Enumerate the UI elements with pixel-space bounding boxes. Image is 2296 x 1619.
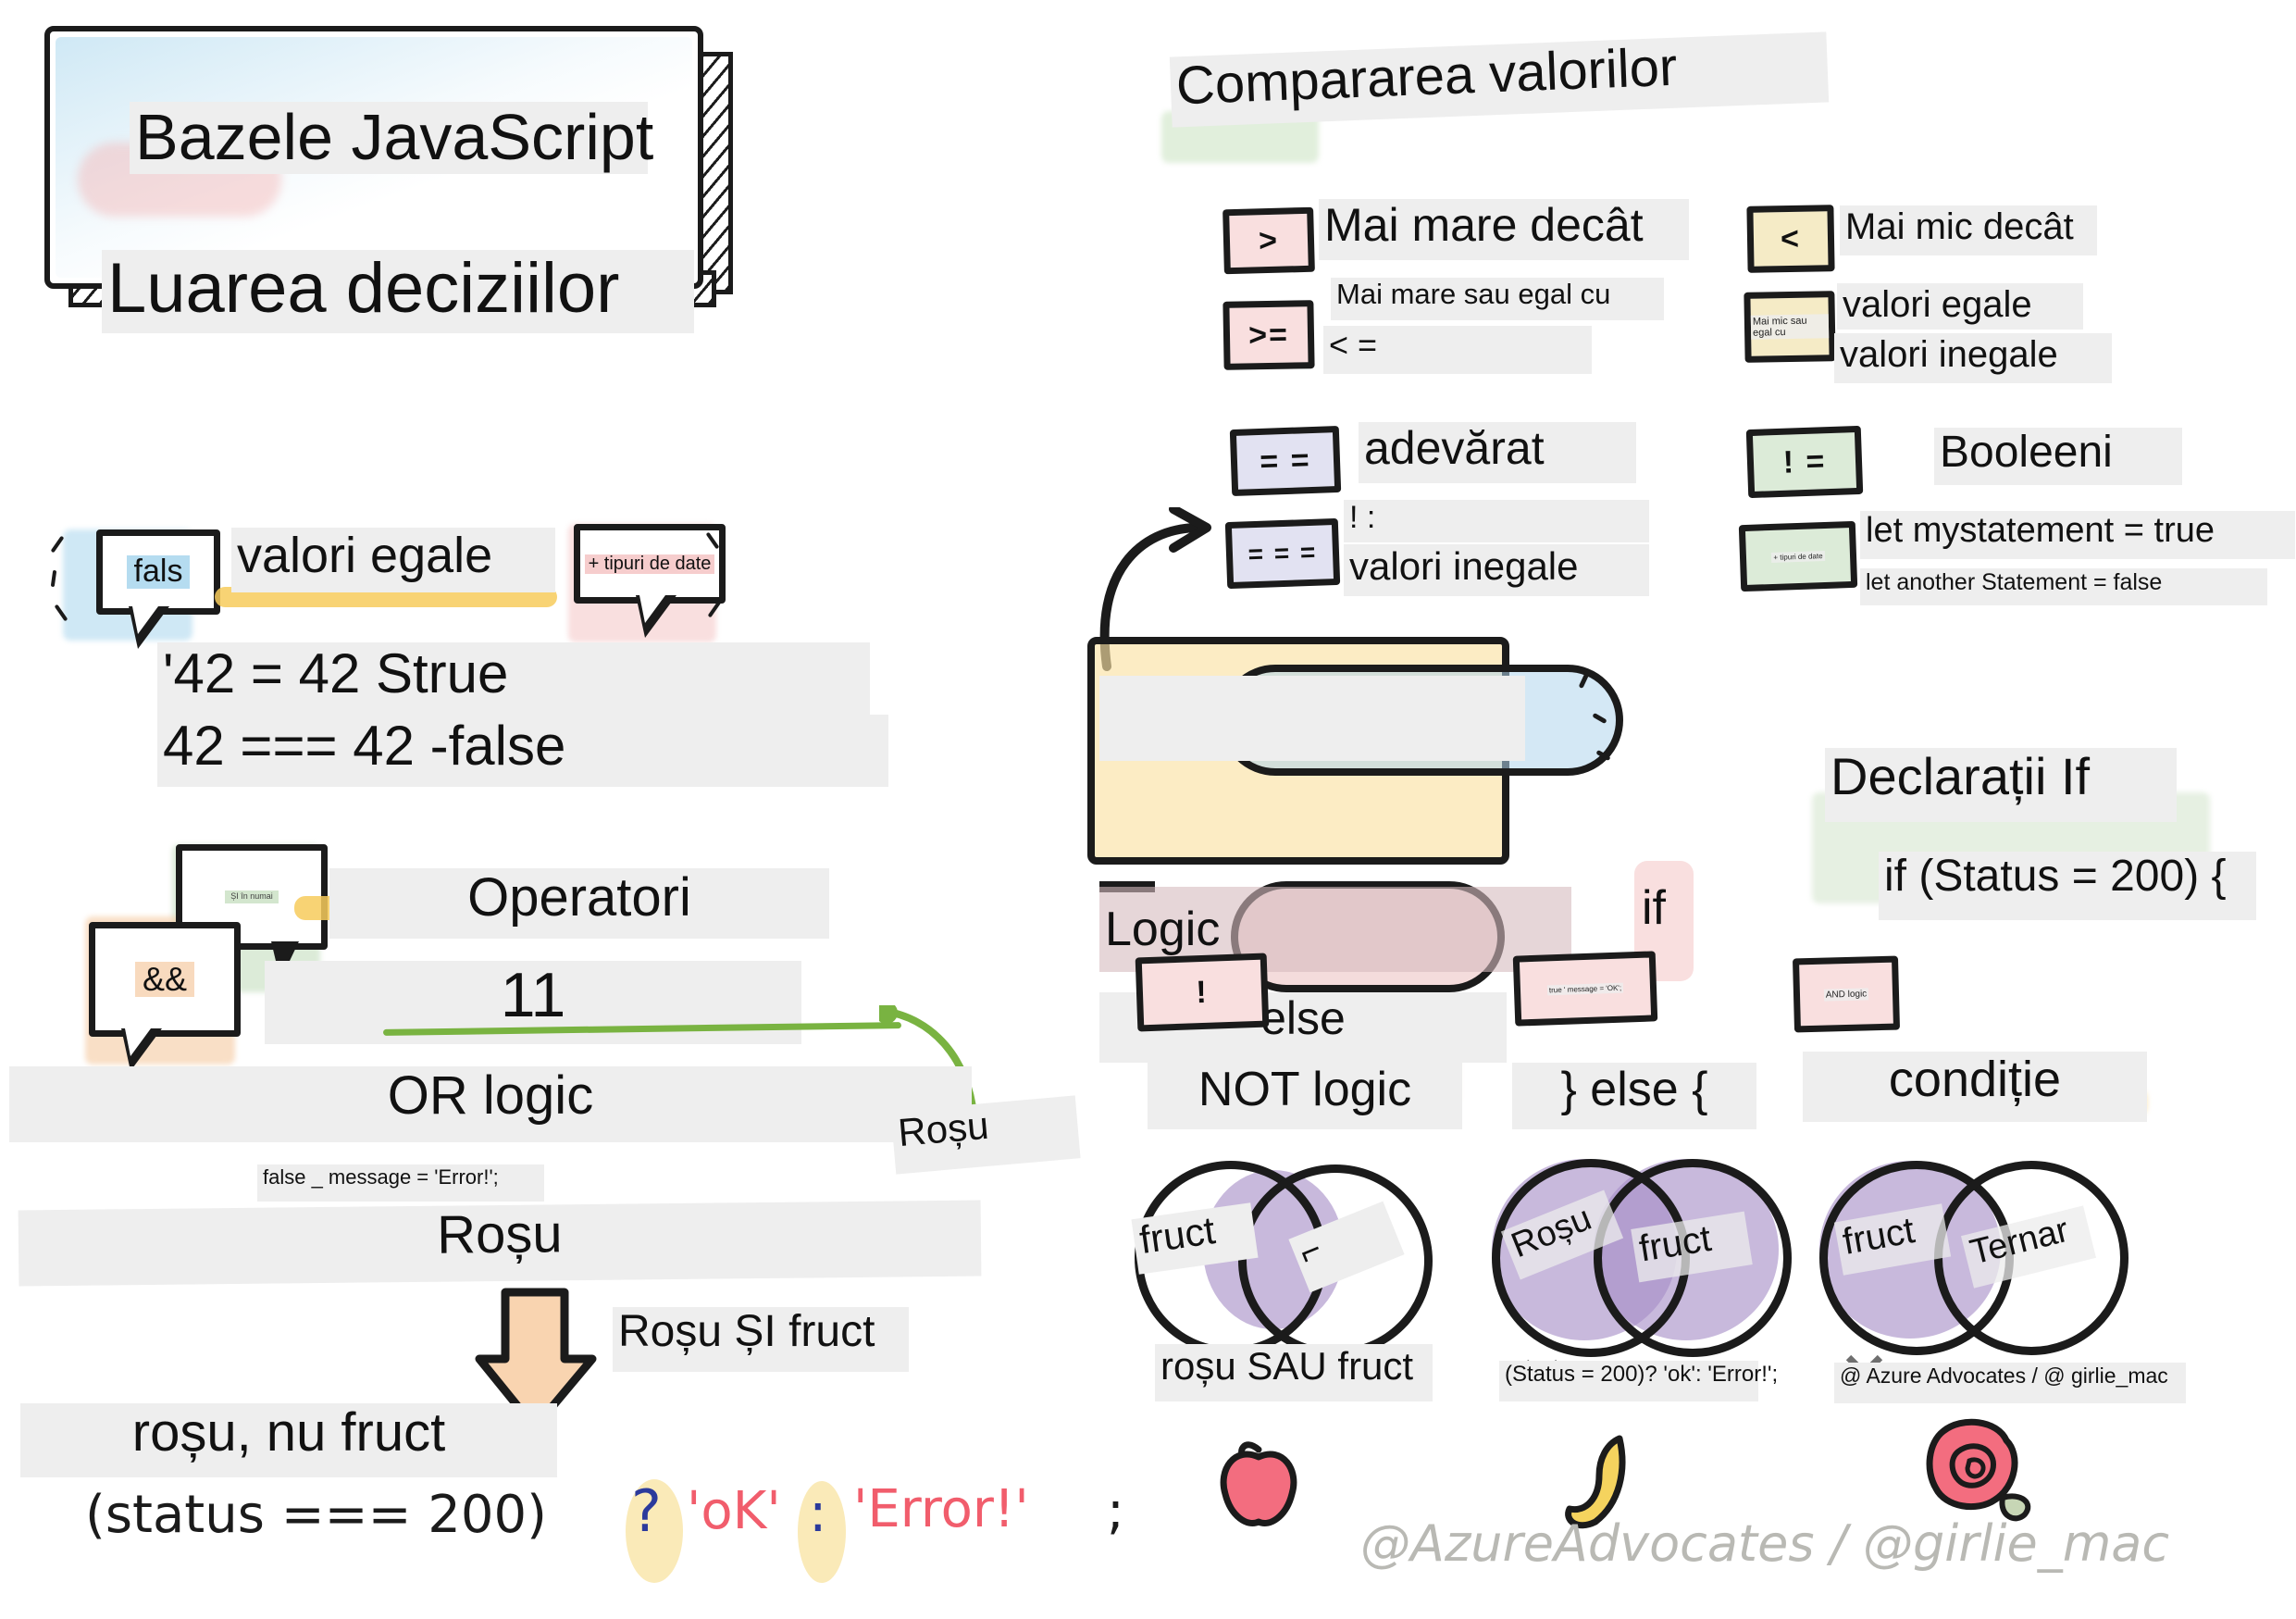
boolean-assign-chip-note: + tipuri de date: [1771, 551, 1825, 563]
greater-equal-glyph: >=: [1248, 317, 1289, 354]
fals-label: fals: [127, 555, 191, 589]
booleeni-label: Booleeni: [1934, 428, 2182, 485]
adevarat-label: adevărat: [1359, 422, 1636, 483]
ternary-false-value: 'Error!': [853, 1479, 1029, 1539]
ternary-colon: :: [809, 1481, 827, 1544]
greater-than-chip: >: [1222, 207, 1315, 275]
and-operator-bubble: &&: [89, 922, 241, 1037]
not-logic-heading: NOT logic: [1148, 1063, 1462, 1129]
watermark: @AzureAdvocates / @girlie_mac: [1360, 1514, 2169, 1573]
equal-values-label: valori egale: [1837, 283, 2083, 330]
greater-than-glyph: >: [1259, 222, 1280, 259]
tipuri-de-date-label: + tipuri de date: [585, 554, 715, 574]
logic-condition-plate: [1099, 676, 1525, 761]
loose-equality-glyph: = =: [1260, 442, 1311, 480]
declaratii-if-heading: Declarații If: [1825, 748, 2177, 822]
equality-code-line-1: '42 = 42 Strue: [157, 642, 870, 715]
ternary-condition: (status === 200): [85, 1485, 547, 1545]
comparison-heading: Compararea valorilor: [1170, 31, 1829, 127]
not-colon-label: ! :: [1344, 500, 1649, 542]
tipuri-de-date-bubble: + tipuri de date: [574, 524, 726, 604]
else-note-chip-label: true ' message = 'OK';: [1547, 982, 1624, 995]
title-line-2: Luarea deciziilor: [102, 250, 694, 333]
less-than-chip: <: [1746, 205, 1834, 273]
not-equal-chip: ! =: [1746, 426, 1864, 498]
operatori-heading: Operatori: [329, 868, 829, 939]
equality-code-line-2: 42 === 42 -false: [157, 715, 888, 787]
loose-equality-chip: = =: [1230, 426, 1341, 496]
spark-icon: [51, 570, 56, 587]
less-equal-chip-note: Mai mic sau egal cu: [1751, 314, 1829, 339]
greater-equal-label: Mai mare sau egal cu: [1331, 278, 1664, 320]
or-logic-label: OR logic: [9, 1066, 972, 1142]
and-logic-chip: AND logic: [1793, 956, 1900, 1033]
spark-icon: [51, 536, 65, 554]
else-note-chip: true ' message = 'OK';: [1513, 951, 1658, 1026]
rosu-nu-fruct-label: roșu, nu fruct: [20, 1403, 557, 1477]
not-equal-glyph: ! =: [1782, 443, 1827, 481]
less-than-glyph: <: [1781, 220, 1802, 256]
and-operator-label: &&: [135, 962, 194, 997]
let-another-statement-false: let another Statement = false: [1860, 568, 2267, 605]
rosu-si-fruct-label: Roșu ȘI fruct: [613, 1307, 909, 1372]
less-equal-chip: Mai mic sau egal cu: [1744, 291, 1835, 363]
if-statement-code: if (Status = 200) {: [1879, 852, 2256, 920]
let-mystatement-true: let mystatement = true: [1860, 511, 2295, 559]
greater-equal-chip: >=: [1222, 300, 1314, 370]
and-logic-chip-label: AND logic: [1824, 988, 1869, 1001]
ternary-true-value: 'oK': [687, 1481, 781, 1541]
conditie-heading: condiție: [1803, 1052, 2147, 1122]
if-label: if: [1636, 881, 1701, 959]
bubble-tail-inner: [639, 595, 665, 623]
bubble-tail-inner: [125, 1028, 151, 1056]
ternary-semicolon: ;: [1107, 1481, 1124, 1541]
less-equal-symbol: < =: [1323, 326, 1592, 374]
spark-icon: [55, 604, 68, 622]
false-message-snippet: false _ message = 'Error!';: [257, 1164, 544, 1202]
bubble-tail-inner: [132, 606, 158, 634]
unequal-values-label-1: valori inegale: [1834, 333, 2112, 383]
valori-egale-heading: valori egale: [231, 528, 555, 592]
less-than-label: Mai mic decât: [1840, 205, 2097, 255]
not-operator-glyph: !: [1196, 974, 1210, 1010]
venn-2-caption: (Status = 200)? 'ok': 'Error!';: [1499, 1361, 1758, 1401]
ternary-question-mark: ?: [631, 1477, 662, 1545]
title-line-1: Bazele JavaScript: [130, 102, 648, 174]
apple-icon: [1203, 1426, 1314, 1537]
venn-3-caption: @ Azure Advocates / @ girlie_mac: [1834, 1363, 2186, 1403]
greater-than-label: Mai mare decât: [1319, 199, 1689, 260]
boolean-assign-chip: + tipuri de date: [1739, 521, 1857, 592]
fals-bubble: fals: [96, 529, 220, 615]
si-numai-label: ȘI în numai: [225, 890, 279, 903]
venn-1-caption: roșu SAU fruct: [1155, 1344, 1433, 1401]
else-block-heading: } else {: [1512, 1063, 1756, 1129]
spark-icon: [722, 567, 726, 583]
rosu-heading: Roșu: [19, 1201, 982, 1287]
unequal-values-label-2: valori inegale: [1344, 544, 1649, 596]
not-operator-chip: !: [1136, 953, 1270, 1032]
